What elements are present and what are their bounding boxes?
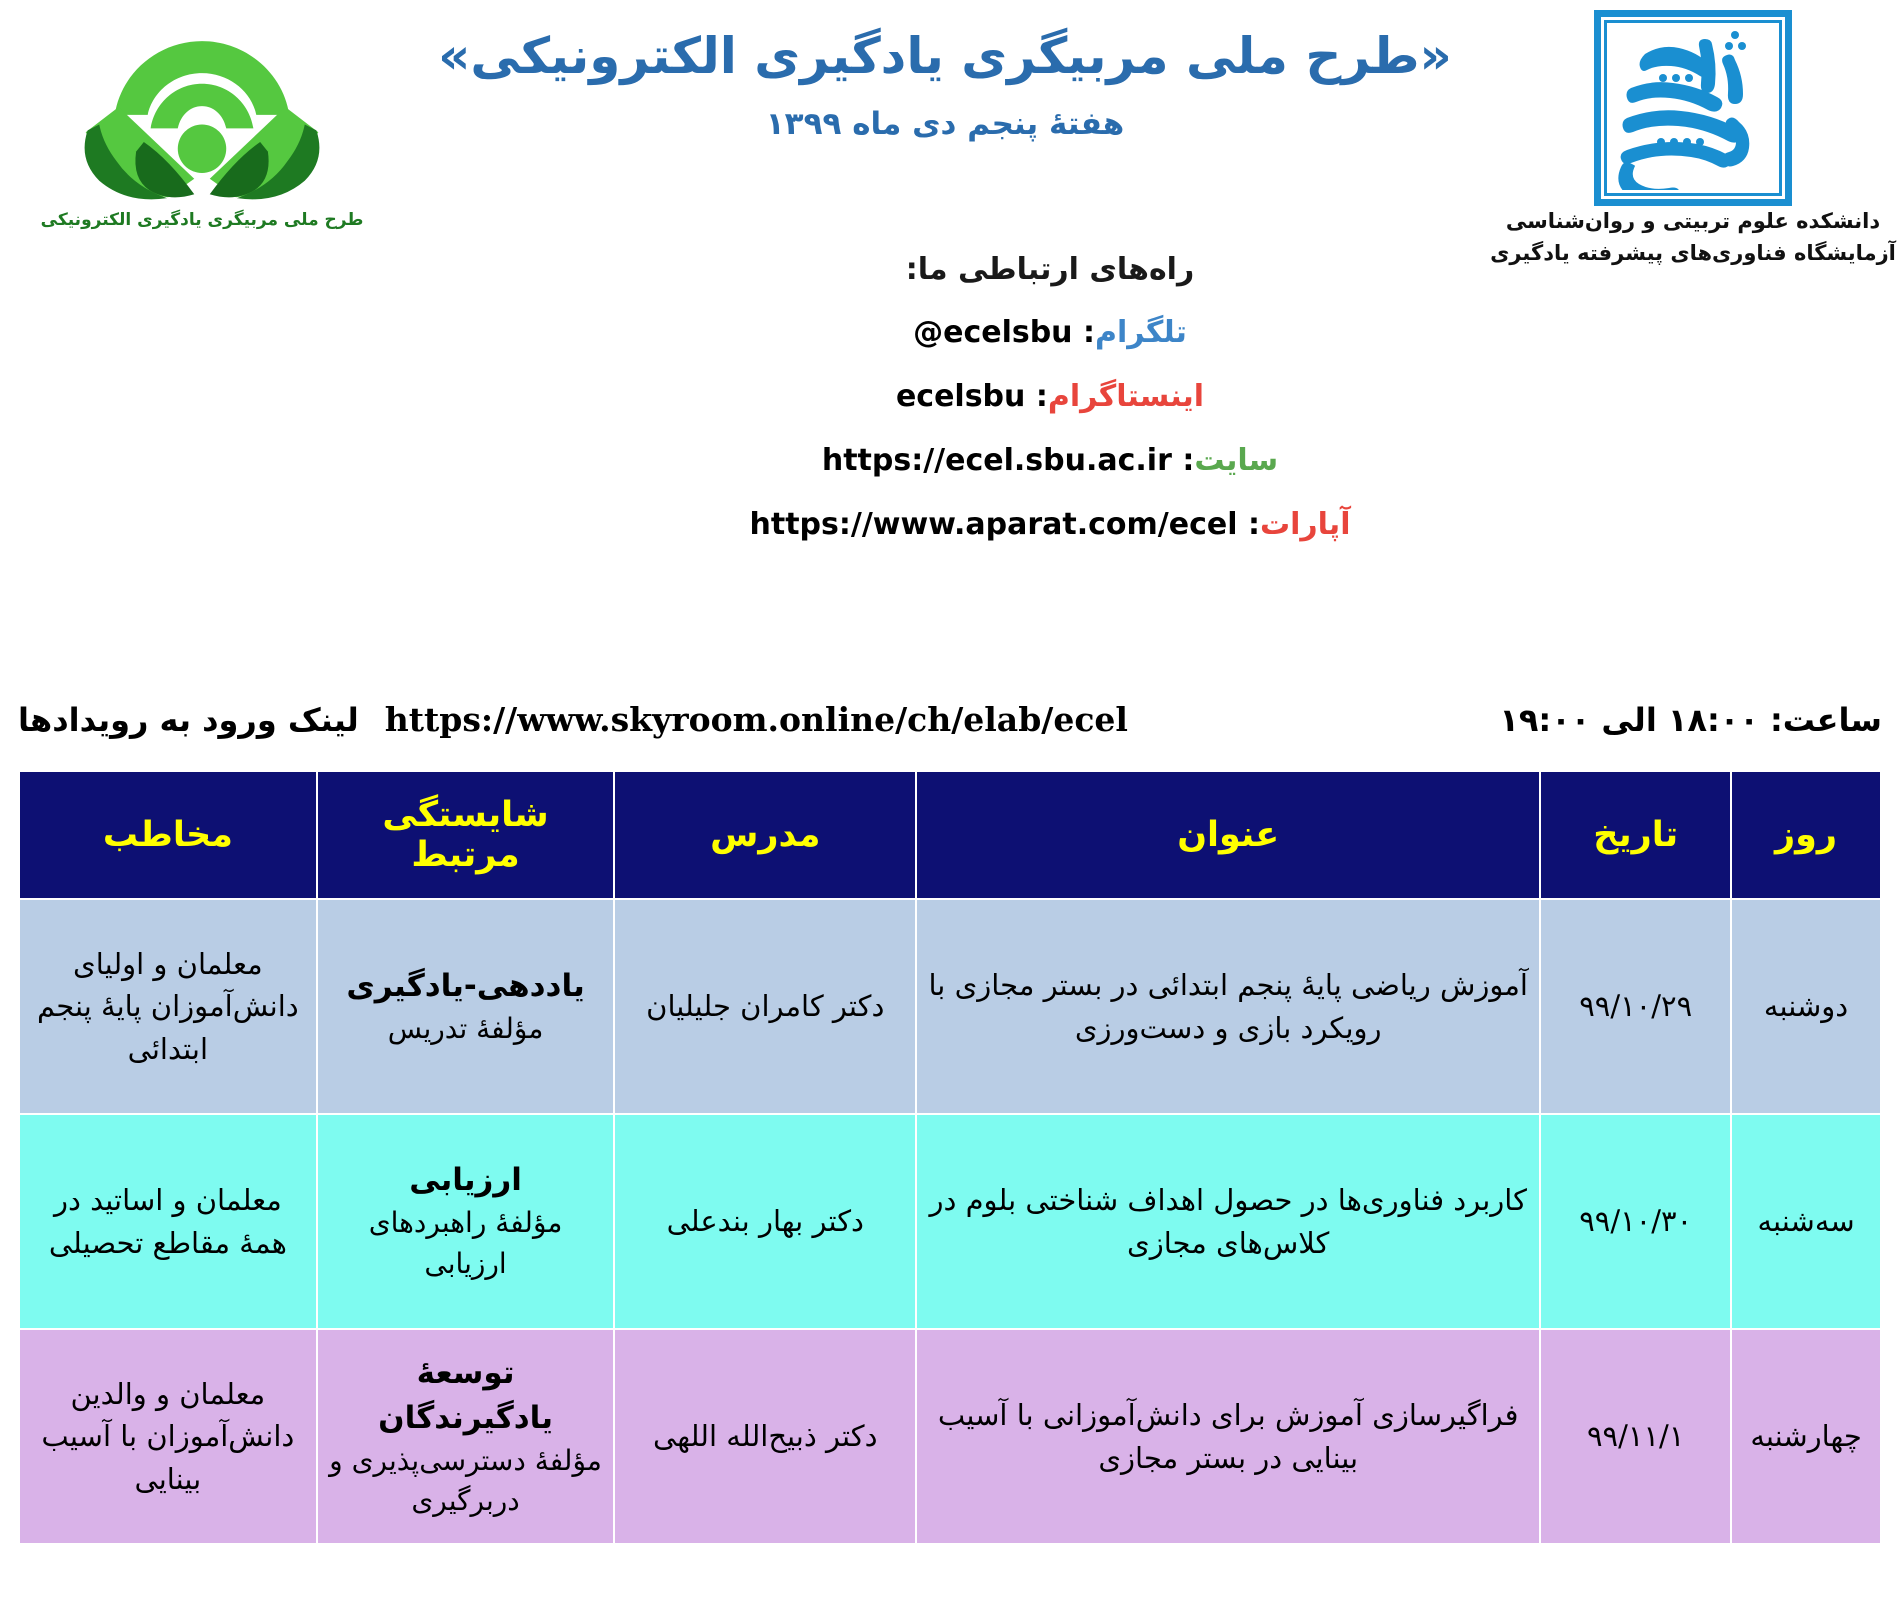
competency-title: توسعهٔ یادگیرندگان xyxy=(328,1351,604,1441)
contact-row-telegram: تلگرام: @ecelsbu xyxy=(200,315,1900,350)
title-block: «طرح ملی مربیگری یادگیری الکترونیکی» هفت… xyxy=(382,10,1508,143)
cell-audience: معلمان و اساتید در همهٔ مقاطع تحصیلی xyxy=(19,1114,317,1329)
shahid-beheshti-university-logo-icon xyxy=(1594,10,1792,206)
column-header-teacher: مدرس xyxy=(614,771,916,899)
skyroom-url[interactable]: https://www.skyroom.online/ch/elab/ecel xyxy=(385,700,1128,739)
website-colon: : xyxy=(1172,443,1194,478)
skyroom-link-group: https://www.skyroom.online/ch/elab/ecel … xyxy=(18,700,1128,739)
instagram-label: اینستاگرام xyxy=(1048,379,1204,414)
ecel-branding: طرح ملی مربیگری یادگیری الکترونیکی xyxy=(22,10,382,230)
cell-audience: معلمان و اولیای دانش‌آموزان پایهٔ پنجم ا… xyxy=(19,899,317,1114)
contact-row-instagram: اینستاگرام: ecelsbu xyxy=(200,379,1900,414)
cell-audience: معلمان و والدین دانش‌آموزان با آسیب بینا… xyxy=(19,1329,317,1544)
cell-day: چهارشنبه xyxy=(1731,1329,1881,1544)
table-row: سه‌شنبه ۹۹/۱۰/۳۰ کاربرد فناوری‌ها در حصو… xyxy=(19,1114,1881,1329)
cell-competency: یاددهی-یادگیری مؤلفهٔ تدریس xyxy=(317,899,615,1114)
telegram-colon: : xyxy=(1073,315,1095,350)
university-branding: دانشکده علوم تربیتی و روان‌شناسی آزمایشگ… xyxy=(1508,10,1878,269)
website-label: سایت xyxy=(1194,443,1278,478)
ecel-project-logo-icon xyxy=(76,14,328,204)
page-subtitle: هفتهٔ پنجم دی ماه ۱۳۹۹ xyxy=(382,106,1508,143)
table-header-row: روز تاریخ عنوان مدرس شایستگی مرتبط مخاطب xyxy=(19,771,1881,899)
cell-date: ۹۹/۱۱/۱ xyxy=(1540,1329,1731,1544)
cell-date: ۹۹/۱۰/۲۹ xyxy=(1540,899,1731,1114)
telegram-handle[interactable]: @ecelsbu xyxy=(913,315,1072,350)
events-entry-label: لینک ورود به رویدادها xyxy=(18,701,359,739)
cell-day: دوشنبه xyxy=(1731,899,1881,1114)
aparat-label: آپارات xyxy=(1260,507,1351,542)
competency-subtitle: مؤلفهٔ تدریس xyxy=(328,1009,604,1050)
faculty-name-line2: آزمایشگاه فناوری‌های پیشرفته یادگیری xyxy=(1490,238,1896,270)
contact-row-website: سایت: https://ecel.sbu.ac.ir xyxy=(200,443,1900,478)
event-time: ساعت: ۱۸:۰۰ الی ۱۹:۰۰ xyxy=(1499,701,1882,739)
competency-title: ارزیابی xyxy=(328,1158,604,1203)
cell-teacher: دکتر ذبیح‌الله اللهی xyxy=(614,1329,916,1544)
telegram-label: تلگرام xyxy=(1095,315,1187,350)
competency-title: یاددهی-یادگیری xyxy=(328,964,604,1009)
cell-teacher: دکتر کامران جلیلیان xyxy=(614,899,916,1114)
column-header-title: عنوان xyxy=(916,771,1540,899)
instagram-colon: : xyxy=(1025,379,1047,414)
table-row: دوشنبه ۹۹/۱۰/۲۹ آموزش ریاضی پایهٔ پنجم ا… xyxy=(19,899,1881,1114)
faculty-name-line1: دانشکده علوم تربیتی و روان‌شناسی xyxy=(1506,206,1880,238)
contact-block: راه‌های ارتباطی ما: تلگرام: @ecelsbu این… xyxy=(0,252,1900,542)
page-title: «طرح ملی مربیگری یادگیری الکترونیکی» xyxy=(382,26,1508,86)
column-header-day: روز xyxy=(1731,771,1881,899)
cell-title: آموزش ریاضی پایهٔ پنجم ابتدائی در بستر م… xyxy=(916,899,1540,1114)
cell-date: ۹۹/۱۰/۳۰ xyxy=(1540,1114,1731,1329)
ecel-logo-caption: طرح ملی مربیگری یادگیری الکترونیکی xyxy=(41,210,364,230)
instagram-handle[interactable]: ecelsbu xyxy=(896,379,1025,414)
column-header-competency: شایستگی مرتبط xyxy=(317,771,615,899)
column-header-date: تاریخ xyxy=(1540,771,1731,899)
aparat-colon: : xyxy=(1238,507,1260,542)
cell-day: سه‌شنبه xyxy=(1731,1114,1881,1329)
cell-title: کاربرد فناوری‌ها در حصول اهداف شناختی بل… xyxy=(916,1114,1540,1329)
website-url[interactable]: https://ecel.sbu.ac.ir xyxy=(822,443,1172,478)
aparat-url[interactable]: https://www.aparat.com/ecel xyxy=(750,507,1238,542)
competency-subtitle: مؤلفهٔ دسترسی‌پذیری و دربرگیری xyxy=(328,1441,604,1522)
cell-title: فراگیرسازی آموزش برای دانش‌آموزانی با آس… xyxy=(916,1329,1540,1544)
event-link-bar: ساعت: ۱۸:۰۰ الی ۱۹:۰۰ https://www.skyroo… xyxy=(0,700,1900,739)
schedule-table: روز تاریخ عنوان مدرس شایستگی مرتبط مخاطب… xyxy=(18,770,1882,1545)
cell-teacher: دکتر بهار بندعلی xyxy=(614,1114,916,1329)
column-header-audience: مخاطب xyxy=(19,771,317,899)
cell-competency: توسعهٔ یادگیرندگان مؤلفهٔ دسترسی‌پذیری و… xyxy=(317,1329,615,1544)
table-row: چهارشنبه ۹۹/۱۱/۱ فراگیرسازی آموزش برای د… xyxy=(19,1329,1881,1544)
cell-competency: ارزیابی مؤلفهٔ راهبردهای ارزیابی xyxy=(317,1114,615,1329)
contact-row-aparat: آپارات: https://www.aparat.com/ecel xyxy=(200,507,1900,542)
competency-subtitle: مؤلفهٔ راهبردهای ارزیابی xyxy=(328,1203,604,1284)
